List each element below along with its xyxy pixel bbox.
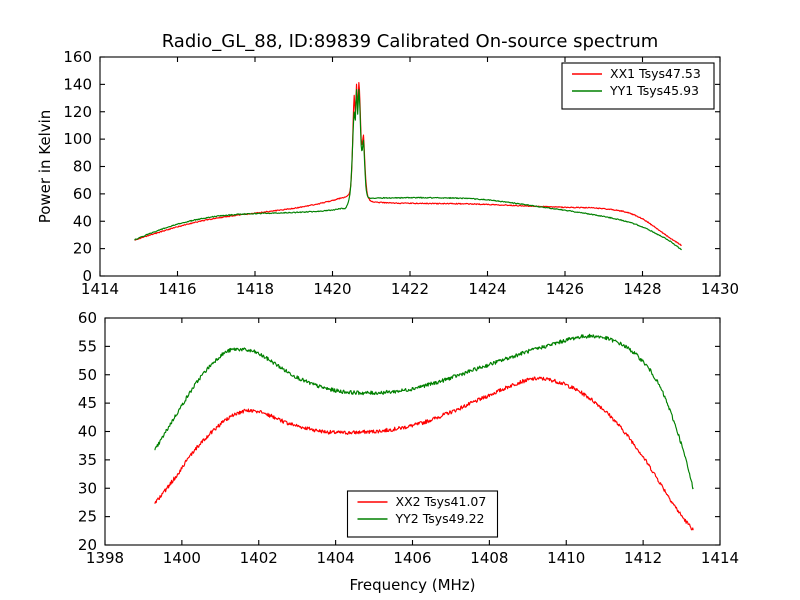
ytick-label-top-8: 160 xyxy=(63,48,92,66)
ytick-label-bottom-7: 55 xyxy=(78,337,97,355)
ytick-label-bottom-5: 45 xyxy=(78,394,97,412)
figure-canvas: 1414141614181420142214241426142814300204… xyxy=(0,0,800,600)
xtick-label-top-8: 1430 xyxy=(701,280,739,298)
ytick-label-top-3: 60 xyxy=(73,185,92,203)
xtick-label-bottom-3: 1404 xyxy=(317,549,355,567)
xtick-label-top-5: 1424 xyxy=(468,280,506,298)
ytick-label-top-5: 100 xyxy=(63,130,92,148)
legend-label-bottom-1: YY2 Tsys49.22 xyxy=(395,511,485,526)
ytick-label-top-6: 120 xyxy=(63,103,92,121)
ytick-label-top-7: 140 xyxy=(63,75,92,93)
xtick-label-top-4: 1422 xyxy=(391,280,429,298)
legend-label-top-0: XX1 Tsys47.53 xyxy=(610,66,701,81)
xtick-label-bottom-5: 1408 xyxy=(470,549,508,567)
panel-bottom: 1398140014021404140614081410141214142025… xyxy=(78,309,739,594)
xtick-label-top-3: 1420 xyxy=(313,280,351,298)
xlabel-bottom: Frequency (MHz) xyxy=(349,576,475,594)
legend-top: XX1 Tsys47.53YY1 Tsys45.93 xyxy=(562,63,714,109)
xtick-label-bottom-6: 1410 xyxy=(547,549,585,567)
legend-label-top-1: YY1 Tsys45.93 xyxy=(609,83,699,98)
xtick-label-bottom-2: 1402 xyxy=(240,549,278,567)
ytick-label-top-2: 40 xyxy=(73,212,92,230)
ytick-label-bottom-8: 60 xyxy=(78,309,97,327)
ytick-label-top-1: 20 xyxy=(73,240,92,258)
xtick-label-bottom-1: 1400 xyxy=(163,549,201,567)
xtick-label-bottom-7: 1412 xyxy=(624,549,662,567)
legend-label-bottom-0: XX2 Tsys41.07 xyxy=(396,494,487,509)
ytick-label-bottom-6: 50 xyxy=(78,366,97,384)
spectrum-figure: 1414141614181420142214241426142814300204… xyxy=(0,0,800,600)
ytick-label-bottom-4: 40 xyxy=(78,423,97,441)
xtick-label-top-1: 1416 xyxy=(158,280,196,298)
panel-top: 1414141614181420142214241426142814300204… xyxy=(36,31,739,298)
plot-title: Radio_GL_88, ID:89839 Calibrated On-sour… xyxy=(162,31,659,52)
xtick-label-top-6: 1426 xyxy=(546,280,584,298)
ytick-label-bottom-2: 30 xyxy=(78,479,97,497)
legend-bottom: XX2 Tsys41.07YY2 Tsys49.22 xyxy=(348,491,498,537)
ylabel-top: Power in Kelvin xyxy=(36,110,54,224)
xtick-label-bottom-4: 1406 xyxy=(393,549,431,567)
ytick-label-bottom-3: 35 xyxy=(78,451,97,469)
xtick-label-bottom-8: 1414 xyxy=(701,549,739,567)
ytick-label-bottom-1: 25 xyxy=(78,508,97,526)
ytick-label-top-4: 80 xyxy=(73,158,92,176)
ytick-label-top-0: 0 xyxy=(82,267,92,285)
ytick-label-bottom-0: 20 xyxy=(78,536,97,554)
xtick-label-top-2: 1418 xyxy=(236,280,274,298)
xtick-label-top-7: 1428 xyxy=(623,280,661,298)
